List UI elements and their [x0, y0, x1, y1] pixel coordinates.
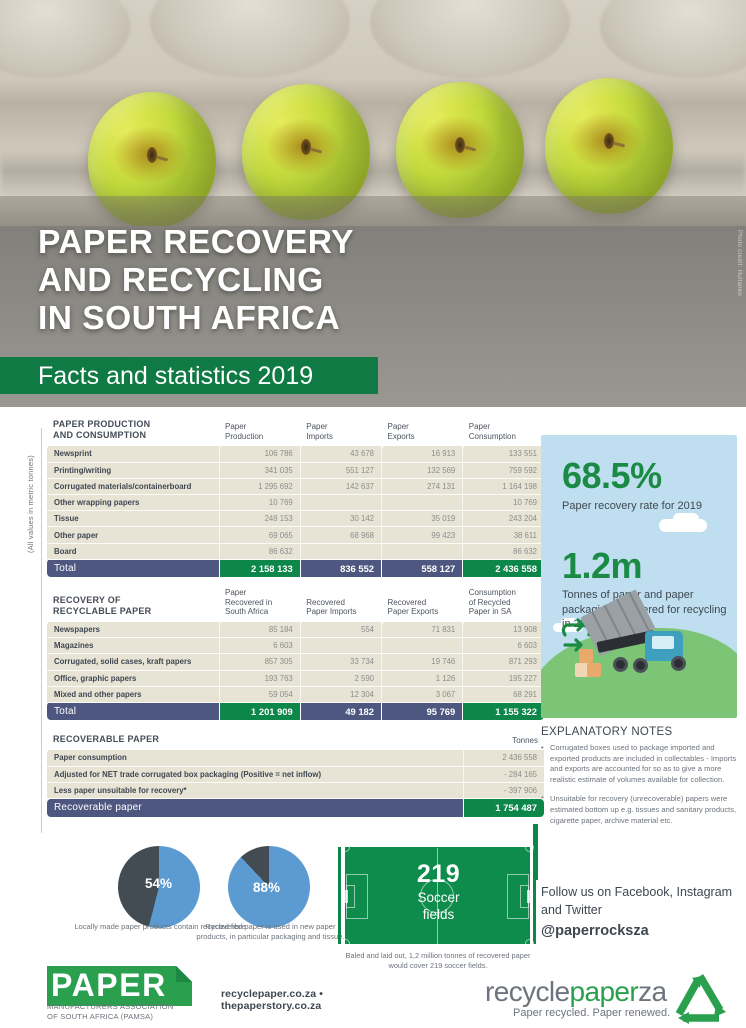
note-text: Unsuitable for recovery (unrecoverable) …	[550, 794, 736, 824]
table-row: Adjusted for NET trade corrugated box pa…	[47, 766, 544, 782]
total-value: 49 182	[300, 702, 381, 720]
total-label: Total	[47, 559, 219, 577]
cell-value: 71 831	[382, 622, 463, 638]
cell-value: 248 153	[219, 511, 300, 527]
pamsa-logo-subtitle: MANUFACTURERS ASSOCIATION OF SOUTH AFRIC…	[47, 1002, 227, 1022]
hero-photo-apples-in-egg-carton	[0, 0, 746, 407]
pamsa-logo-wordmark: PAPER	[51, 965, 188, 1005]
recyclepaperza-wordmark: recyclepaperza	[485, 976, 667, 1008]
cell-value: 132 569	[382, 462, 463, 478]
hero-header: PAPER RECOVERY AND RECYCLING IN SOUTH AF…	[0, 0, 746, 407]
col-head-line-2: Production	[225, 432, 294, 442]
cell-value: 1 126	[382, 670, 463, 686]
row-label: Printing/writing	[47, 462, 219, 478]
table-total-row: Recoverable paper 1 754 487	[47, 799, 544, 817]
table-row: Printing/writing 341 035 551 127 132 569…	[47, 462, 544, 478]
soccer-field-number: 219	[346, 860, 531, 889]
rpza-word-part-3: za	[638, 976, 666, 1007]
follow-us-text: Follow us on Facebook, Instagram and Twi…	[541, 884, 741, 919]
total-value: 2 436 558	[463, 559, 544, 577]
row-label: Corrugated, solid cases, kraft papers	[47, 654, 219, 670]
cell-value: 133 551	[463, 446, 544, 462]
row-label: Newspapers	[47, 622, 219, 638]
column-header-tonnes: Tonnes	[463, 734, 544, 750]
cell-value: 554	[300, 622, 381, 638]
table-row: Newspapers 85 184 554 71 831 13 908	[47, 622, 544, 638]
unit-note: (All values in metric tonnes)	[26, 539, 35, 553]
page-title-line-3: IN SOUTH AFRICA	[38, 300, 468, 338]
cell-value	[300, 543, 381, 559]
cell-value: 551 127	[300, 462, 381, 478]
total-label: Recoverable paper	[47, 799, 463, 817]
total-label: Total	[47, 702, 219, 720]
photo-credit: Photo credit: Hultanen	[736, 230, 742, 296]
column-header-paper-exports: Paper Exports	[382, 419, 463, 446]
table-total-row: Total 2 158 133 836 552 558 127 2 436 55…	[47, 559, 544, 577]
cell-value: 68 291	[463, 686, 544, 702]
column-header-consumption-of-recycled-paper-in-sa: Consumption of Recycled Paper in SA	[463, 588, 544, 622]
col-head-line-2: Paper Exports	[388, 607, 457, 617]
cell-value: 10 769	[219, 495, 300, 511]
col-head-line-2: Exports	[388, 432, 457, 442]
cell-value: 86 632	[463, 543, 544, 559]
cell-value: 69 065	[219, 527, 300, 543]
table-title-recovery: RECOVERY OF RECYCLABLE PAPER	[47, 588, 219, 622]
col-head-line-1: Paper	[469, 422, 538, 432]
cell-value: 857 305	[219, 654, 300, 670]
cell-value: 274 131	[382, 478, 463, 494]
table-row: Corrugated materials/containerboard 1 29…	[47, 478, 544, 494]
table-row: Mixed and other papers 59 054 12 304 3 0…	[47, 686, 544, 702]
cell-value: 871 293	[463, 654, 544, 670]
pamsa-logo-page-fold-icon	[176, 966, 192, 982]
col-head-line-2: Paper Imports	[306, 607, 375, 617]
cell-value: 2 590	[300, 670, 381, 686]
truck-wheel-rear	[613, 657, 628, 672]
soccer-field-label: Soccer fields	[346, 889, 531, 923]
note-item: • Corrugated boxes used to package impor…	[541, 743, 743, 785]
total-value: 2 158 133	[219, 559, 300, 577]
pamsa-logo[interactable]: PAPER	[47, 966, 192, 1006]
cell-value: 1 295 692	[219, 478, 300, 494]
total-value: 1 201 909	[219, 702, 300, 720]
pie-chart-recycled-fibre-label: 54%	[145, 876, 172, 891]
pie-chart-recovered-paper-usage-caption: Recovered paper is used in new paper pro…	[193, 922, 348, 942]
row-label: Less paper unsuitable for recovery*	[47, 782, 463, 798]
total-value: 836 552	[300, 559, 381, 577]
col-head-line-3: South Africa	[225, 607, 294, 617]
note-item: * Unsuitable for recovery (unrecoverable…	[541, 794, 743, 826]
cell-value: 33 734	[300, 654, 381, 670]
row-label: Adjusted for NET trade corrugated box pa…	[47, 766, 463, 782]
table-title-production-line-1: PAPER PRODUCTION	[53, 419, 213, 430]
recycling-triangle-icon	[667, 970, 733, 1028]
col-head-line-1: Paper	[225, 422, 294, 432]
col-head-line-2: of Recycled	[469, 598, 538, 608]
column-header-paper-recovered-in-south-africa: Paper Recovered in South Africa	[219, 588, 300, 622]
recyclepaperza-logo[interactable]: recyclepaperza Paper recycled. Paper ren…	[485, 976, 740, 1022]
cell-value: - 284 165	[463, 766, 544, 782]
table-row: Corrugated, solid cases, kraft papers 85…	[47, 654, 544, 670]
cell-value: 195 227	[463, 670, 544, 686]
cell-value	[300, 495, 381, 511]
col-head-line-1: Consumption	[469, 588, 538, 598]
cell-value: 13 908	[463, 622, 544, 638]
col-head-line-2: Recovered in	[225, 598, 294, 608]
cell-value: 106 786	[219, 446, 300, 462]
cell-value: 19 746	[382, 654, 463, 670]
soccer-field-graphic: 219 Soccer fields	[345, 847, 530, 944]
footer-urls[interactable]: recyclepaper.co.za • thepaperstory.co.za	[221, 988, 421, 1012]
table-row: Paper consumption 2 436 558	[47, 750, 544, 766]
cell-value	[382, 638, 463, 654]
total-value: 1 155 322	[463, 702, 544, 720]
recyclepaperza-tagline: Paper recycled. Paper renewed.	[513, 1007, 670, 1019]
total-value: 95 769	[382, 702, 463, 720]
cell-value: 30 142	[300, 511, 381, 527]
total-value: 1 754 487	[463, 799, 544, 817]
cell-value: - 397 906	[463, 782, 544, 798]
truck-wheel-mid	[633, 658, 648, 673]
total-value: 558 127	[382, 559, 463, 577]
table-row: Office, graphic papers 193 763 2 590 1 1…	[47, 670, 544, 686]
cell-value: 243 204	[463, 511, 544, 527]
table-title-recovery-line-2: RECYCLABLE PAPER	[53, 606, 213, 617]
field-accent-bar-right	[533, 847, 536, 944]
cell-value: 10 769	[463, 495, 544, 511]
table-row: Tissue 248 153 30 142 35 019 243 204	[47, 511, 544, 527]
cell-value: 38 611	[463, 527, 544, 543]
row-label: Office, graphic papers	[47, 670, 219, 686]
cell-value: 16 913	[382, 446, 463, 462]
table-row: Less paper unsuitable for recovery* - 39…	[47, 782, 544, 798]
page-title-line-1: PAPER RECOVERY	[38, 224, 468, 262]
row-label: Mixed and other papers	[47, 686, 219, 702]
row-label: Other paper	[47, 527, 219, 543]
note-bullet: *	[541, 794, 544, 805]
paper-bale-3	[587, 663, 601, 677]
table-recoverable-paper: RECOVERABLE PAPER Tonnes Paper consumpti…	[47, 734, 544, 817]
row-label: Paper consumption	[47, 750, 463, 766]
truck-window	[652, 636, 674, 649]
table-row: Newsprint 106 786 43 678 16 913 133 551	[47, 446, 544, 462]
cell-value: 3 067	[382, 686, 463, 702]
stat-tonnes-recovered-value: 1.2m	[562, 545, 642, 587]
cell-value: 6 603	[219, 638, 300, 654]
truck-wheel-front	[671, 656, 686, 671]
table-row: Magazines 6 603 6 603	[47, 638, 544, 654]
key-stats-panel: 68.5% Paper recovery rate for 2019 1.2m …	[541, 435, 737, 718]
col-head-line-2: Consumption	[469, 432, 538, 442]
rpza-word-part-1: recycle	[485, 976, 570, 1007]
cell-value: 12 304	[300, 686, 381, 702]
cell-value: 43 678	[300, 446, 381, 462]
col-head-line-1: Paper	[225, 588, 294, 598]
note-bullet: •	[541, 743, 544, 754]
cell-value: 6 603	[463, 638, 544, 654]
column-header-paper-consumption: Paper Consumption	[463, 419, 544, 446]
cell-value: 59 054	[219, 686, 300, 702]
row-label: Magazines	[47, 638, 219, 654]
cell-value	[382, 495, 463, 511]
column-header-paper-imports: Paper Imports	[300, 419, 381, 446]
row-label: Newsprint	[47, 446, 219, 462]
paper-bale-1	[579, 649, 593, 663]
row-label: Tissue	[47, 511, 219, 527]
apple-4	[545, 78, 673, 214]
row-label: Corrugated materials/containerboard	[47, 478, 219, 494]
column-header-paper-production: Paper Production	[219, 419, 300, 446]
cell-value: 1 164 198	[463, 478, 544, 494]
cell-value: 193 763	[219, 670, 300, 686]
subtitle-banner: Facts and statistics 2019	[0, 357, 378, 394]
cell-value	[382, 543, 463, 559]
table-paper-production-and-consumption: PAPER PRODUCTION AND CONSUMPTION Paper P…	[47, 419, 544, 577]
subtitle-text: Facts and statistics 2019	[38, 361, 313, 391]
soccer-field-label-line-2: fields	[346, 906, 531, 923]
page-title-line-2: AND RECYCLING	[38, 262, 468, 300]
table-total-row: Total 1 201 909 49 182 95 769 1 155 322	[47, 702, 544, 720]
cell-value	[300, 638, 381, 654]
table-row: Other paper 69 065 68 968 99 423 38 611	[47, 527, 544, 543]
table-title-recoverable: RECOVERABLE PAPER	[47, 734, 463, 750]
row-label: Other wrapping papers	[47, 495, 219, 511]
cell-value: 2 436 558	[463, 750, 544, 766]
note-text: Corrugated boxes used to package importe…	[550, 743, 736, 784]
soccer-field-label-line-1: Soccer	[346, 889, 531, 906]
cell-value: 142 637	[300, 478, 381, 494]
col-head-line-3: Paper in SA	[469, 607, 538, 617]
column-header-recovered-paper-exports: Recovered Paper Exports	[382, 588, 463, 622]
table-title-production: PAPER PRODUCTION AND CONSUMPTION	[47, 419, 219, 446]
rpza-word-part-2: paper	[570, 976, 639, 1007]
page-title: PAPER RECOVERY AND RECYCLING IN SOUTH AF…	[38, 224, 468, 338]
table-row: Other wrapping papers 10 769 10 769	[47, 495, 544, 511]
col-head-line-1: Recovered	[306, 598, 375, 608]
table-title-recovery-line-1: RECOVERY OF	[53, 595, 213, 606]
cell-value: 86 632	[219, 543, 300, 559]
unit-note-wrapper: (All values in metric tonnes)	[26, 553, 40, 562]
cell-value: 341 035	[219, 462, 300, 478]
explanatory-notes-heading: EXPLANATORY NOTES	[541, 726, 743, 738]
follow-us-block: Follow us on Facebook, Instagram and Twi…	[541, 884, 741, 939]
table-row: Board 86 632 86 632	[47, 543, 544, 559]
unit-note-divider	[41, 428, 42, 833]
cell-value: 68 968	[300, 527, 381, 543]
table-recovery-of-recyclable-paper: RECOVERY OF RECYCLABLE PAPER Paper Recov…	[47, 588, 544, 720]
explanatory-notes: EXPLANATORY NOTES • Corrugated boxes use…	[541, 726, 743, 835]
field-accent-bar-left	[338, 847, 341, 944]
col-head-line-2: Imports	[306, 432, 375, 442]
col-head-line-1: Paper	[388, 422, 457, 432]
column-header-recovered-paper-imports: Recovered Paper Imports	[300, 588, 381, 622]
pamsa-subtitle-line-1: MANUFACTURERS ASSOCIATION	[47, 1002, 227, 1012]
col-head-line-1: Recovered	[388, 598, 457, 608]
stat-paper-recovery-rate-caption: Paper recovery rate for 2019	[562, 499, 722, 514]
social-handle[interactable]: @paperrocksza	[541, 923, 741, 939]
pie-chart-recovered-paper-usage-label: 88%	[253, 880, 280, 895]
cell-value: 35 019	[382, 511, 463, 527]
cell-value: 99 423	[382, 527, 463, 543]
col-head-line-1: Paper	[306, 422, 375, 432]
cell-value: 759 592	[463, 462, 544, 478]
pamsa-subtitle-line-2: OF SOUTH AFRICA (PAMSA)	[47, 1012, 227, 1022]
stat-paper-recovery-rate-value: 68.5%	[562, 455, 662, 497]
cell-value: 85 184	[219, 622, 300, 638]
table-title-production-line-2: AND CONSUMPTION	[53, 430, 213, 441]
row-label: Board	[47, 543, 219, 559]
